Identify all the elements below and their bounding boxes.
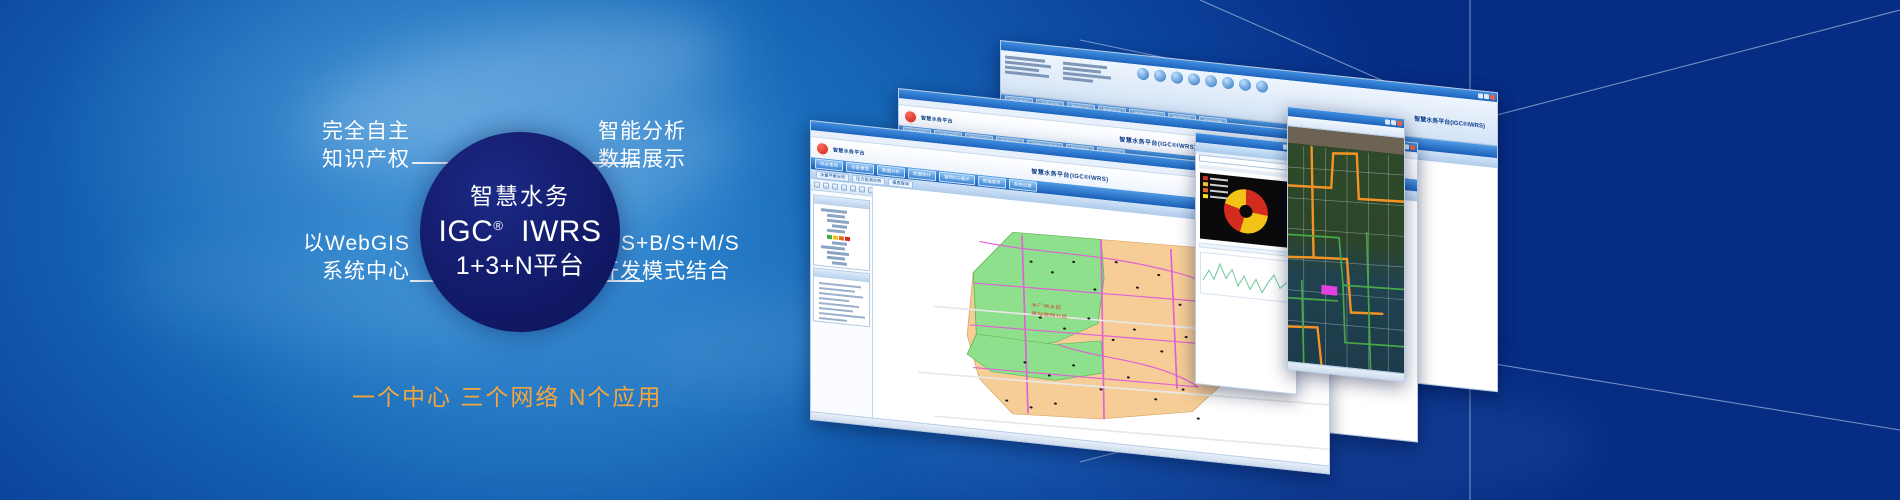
platform-product: IGC® IWRS — [439, 214, 602, 249]
layer-tree[interactable] — [814, 203, 869, 270]
ribbon-icon[interactable] — [1222, 76, 1234, 89]
screenshot-stack: 智慧水务平台(IGC®IWRS) — [790, 40, 1510, 460]
product-igc: IGC — [439, 215, 494, 248]
water-drop-logo-icon — [816, 141, 829, 155]
feature-label-top-left: 完全自主 知识产权 — [270, 118, 410, 174]
feature-label-bottom-right: C/S+B/S+M/S 开发模式结合 — [598, 230, 808, 286]
donut-legend — [1203, 176, 1228, 203]
ribbon-icon[interactable] — [1171, 71, 1183, 84]
road-network-overlay — [1288, 126, 1404, 373]
ribbon-icon[interactable] — [1256, 80, 1268, 93]
feature-line-2: 系统中心 — [260, 258, 410, 286]
attribute-panel[interactable] — [813, 267, 870, 327]
feature-line-1: 以WebGIS — [303, 232, 410, 255]
open-icon[interactable] — [814, 181, 820, 188]
ribbon-icon[interactable] — [1154, 69, 1166, 82]
feature-line-2: 开发模式结合 — [598, 258, 808, 286]
feature-line-2: 数据展示 — [598, 146, 798, 174]
ribbon-icon[interactable] — [1239, 78, 1251, 91]
donut-ring — [1224, 187, 1268, 236]
sparkline-chart — [1200, 252, 1292, 304]
feature-label-top-right: 智能分析 数据展示 — [598, 118, 798, 174]
zoom-out-icon[interactable] — [850, 185, 856, 192]
product-iwrs: IWRS — [521, 215, 601, 248]
satellite-map-window[interactable] — [1287, 106, 1405, 382]
banner-tagline: 一个中心 三个网络 N个应用 — [352, 378, 662, 412]
ribbon-icon[interactable] — [1205, 75, 1217, 88]
hero-banner: 智慧水务平台(IGC®IWRS) — [0, 0, 1900, 500]
platform-title: 智慧水务 — [470, 183, 570, 210]
registered-mark-icon: ® — [493, 218, 503, 233]
feature-line-1: 完全自主 — [322, 120, 410, 143]
layer-tree-panel[interactable] — [813, 194, 870, 271]
water-drop-logo-icon — [904, 109, 917, 123]
app-title-middle: 智慧水务平台(IGC®IWRS) — [1119, 134, 1196, 151]
donut-chart — [1200, 173, 1292, 249]
ribbon-icon[interactable] — [1137, 67, 1149, 80]
zoom-in-icon[interactable] — [841, 184, 847, 191]
attribute-list — [814, 276, 869, 326]
platform-circle: 智慧水务 IGC® IWRS 1+3+N平台 — [420, 132, 620, 332]
brand-label: 智慧水务平台 — [921, 114, 953, 124]
ribbon-icon[interactable] — [1188, 73, 1200, 86]
dashboard-window[interactable] — [1195, 132, 1297, 395]
brand-label: 智慧水务平台 — [833, 146, 865, 156]
platform-model: 1+3+N平台 — [456, 252, 585, 282]
satellite-canvas[interactable] — [1288, 126, 1404, 373]
pan-icon[interactable] — [832, 183, 838, 190]
feature-label-bottom-left: 以WebGIS 系统中心 — [260, 230, 410, 286]
layer-sidebar[interactable] — [811, 179, 873, 426]
select-icon[interactable] — [859, 186, 865, 193]
feature-line-1: 智能分析 — [598, 120, 686, 143]
ribbon-group-2[interactable] — [1063, 60, 1117, 88]
highlight-parcel — [1321, 285, 1337, 296]
platform-infographic: 完全自主 知识产权 智能分析 数据展示 以WebGIS 系统中心 C/S+B/S… — [270, 110, 790, 370]
ribbon-group-1[interactable] — [1005, 54, 1059, 82]
save-icon[interactable] — [823, 182, 829, 189]
app-title-front: 智慧水务平台(IGC®IWRS) — [1031, 166, 1108, 183]
feature-line-2: 知识产权 — [270, 146, 410, 174]
